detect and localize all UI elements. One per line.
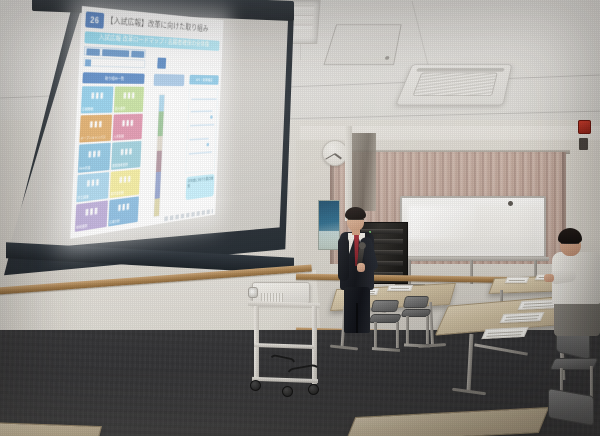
slide-schedule-card	[154, 74, 185, 86]
chart-icon: ▮▮▮	[122, 119, 135, 128]
glasses-icon	[348, 219, 364, 223]
whiteboard-pen-tray	[397, 257, 549, 261]
projector-lens-icon	[248, 287, 258, 298]
slide-tile: ▮▮▮学生募集	[76, 172, 109, 203]
slide-timeline-segment	[158, 112, 164, 136]
slide-column-header-1: 取り組み一覧	[82, 72, 144, 84]
chart-icon: ▮▮▮	[118, 202, 131, 212]
alarm-speaker-icon	[579, 138, 588, 150]
slide-timeline-segment	[159, 95, 165, 112]
chart-icon: ▮▮▮	[120, 146, 133, 155]
slide-tile-caption: 広報戦略	[82, 107, 112, 113]
ceiling-access-panel	[323, 24, 401, 65]
chart-icon: ▮▮▮	[91, 91, 105, 100]
printed-handout	[505, 277, 529, 283]
chart-icon: ▮▮▮	[123, 91, 136, 100]
slide-timeline-segment	[157, 136, 163, 151]
fire-alarm-bell-icon	[578, 120, 591, 134]
slide-tile-caption: オープンキャンパス	[80, 135, 110, 142]
projection-screen: 26 【入試広報】改革に向けた取り組み 入試広報 改革ロードマップ / 志願者確…	[0, 0, 320, 300]
slide-kpi-row	[191, 110, 213, 112]
slide-tile: ▮▮▮広報分析	[108, 196, 139, 226]
slide-toolbar	[84, 46, 146, 58]
slide-kpi-row	[190, 124, 214, 127]
slide-tile: ▮▮▮進路指導連携	[111, 141, 141, 169]
slide-tile-grid: ▮▮▮広報戦略▮▮▮高大連携▮▮▮オープンキャンパス▮▮▮入試制度▮▮▮Web改…	[75, 86, 144, 232]
slide-tile-caption: Web改善	[79, 164, 109, 172]
slide-kpi-row	[191, 98, 216, 100]
slide-tile: ▮▮▮広報戦略	[81, 86, 114, 113]
slide-tile-caption: 学生募集	[77, 192, 107, 201]
slide-tile: ▮▮▮地域連携	[75, 200, 108, 232]
chart-icon: ▮▮▮	[119, 174, 132, 184]
slide-blue-marker	[157, 58, 166, 69]
presenter-person	[336, 203, 380, 333]
chart-icon: ▮▮▮	[88, 148, 102, 158]
chart-icon: ▮▮▮	[86, 177, 100, 187]
chart-icon: ▮▮▮	[89, 120, 103, 129]
slide-page-number: 26	[85, 11, 104, 28]
slide-tile-caption: 奨学金制度	[110, 189, 138, 197]
slide-callout: 次年度に向けた重点施策	[186, 174, 215, 200]
slide-kpi-row	[189, 138, 208, 141]
slide-tile: ▮▮▮Web改善	[78, 143, 111, 172]
slide-kpi-panel	[185, 89, 218, 174]
slide-tile: ▮▮▮オープンキャンパス	[79, 115, 112, 143]
slide-tile-caption: 広報分析	[109, 216, 137, 225]
slide-tile-caption: 進路指導連携	[112, 161, 140, 168]
slide-timeline-segment	[154, 199, 160, 217]
printed-handout	[387, 285, 413, 291]
whiteboard-magnet-icon	[508, 201, 513, 206]
slide-timeline-segment	[156, 150, 162, 172]
glasses-icon	[561, 243, 579, 246]
projected-slide: 26 【入試広報】改革に向けた取り組み 入試広報 改革ロードマップ / 志願者確…	[70, 6, 223, 239]
door-frame	[352, 133, 376, 211]
slide-toolbar-secondary	[83, 57, 145, 68]
slide-tile-caption: 入試制度	[113, 134, 141, 140]
slide-tile-caption: 地域連携	[76, 221, 106, 231]
slide-tile-caption: 高大連携	[115, 106, 143, 111]
slide-column-header-3: KPI・効果検証	[189, 75, 218, 85]
slide-timeline-segment	[155, 172, 161, 199]
attendee-person	[552, 228, 600, 336]
slide-tile: ▮▮▮奨学金制度	[110, 169, 141, 198]
whiteboard	[400, 196, 546, 286]
slide-tile: ▮▮▮高大連携	[114, 87, 144, 113]
chart-icon: ▮▮▮	[85, 206, 99, 217]
slide-kpi-row	[189, 151, 212, 155]
slide-tile: ▮▮▮入試制度	[112, 114, 142, 141]
slide-timeline-bar	[153, 94, 165, 217]
air-conditioner-icon	[395, 64, 512, 105]
seminar-room-photo: 26 【入試広報】改革に向けた取り組み 入試広報 改革ロードマップ / 志願者確…	[0, 0, 600, 436]
